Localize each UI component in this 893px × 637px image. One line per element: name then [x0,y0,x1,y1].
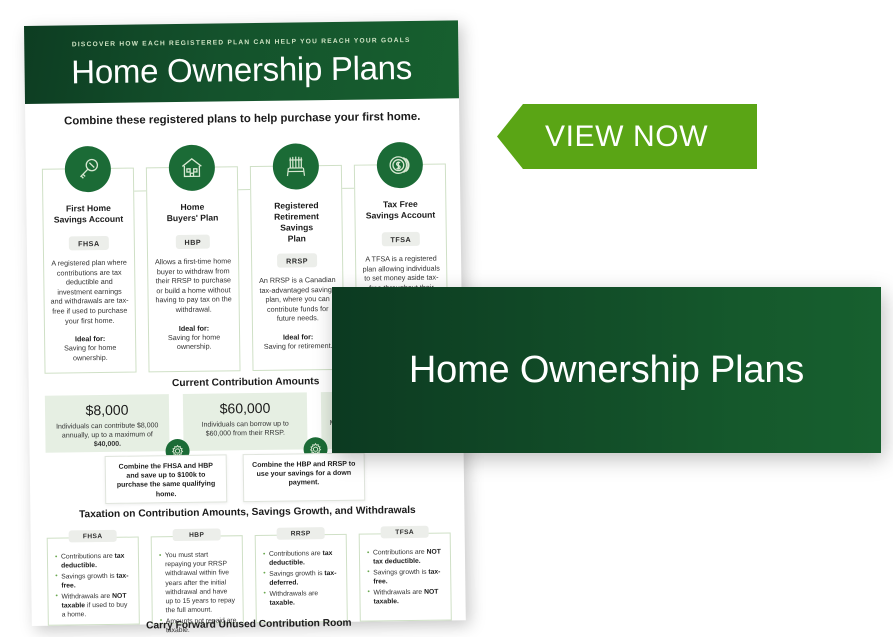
chair-icon [273,143,320,190]
taxation-badge: RRSP [277,527,325,540]
key-icon [65,146,112,193]
plan-description: An RRSP is a Canadian tax-advantaged sav… [258,275,337,324]
contribution-value: $60,000 [191,399,299,417]
plan-name: HomeBuyers' Plan [153,201,231,226]
plan-ideal-value: Saving for home ownership. [51,343,129,363]
view-now-button[interactable]: VIEW NOW [497,104,757,169]
overlay-title-panel[interactable]: Home Ownership Plans [332,287,881,453]
taxation-section-title: Taxation on Contribution Amounts, Saving… [30,504,464,521]
list-item: You must start repaying your RRSP withdr… [159,550,237,615]
plan-connector-line [134,190,146,191]
plan-card-hbp[interactable]: HomeBuyers' Plan HBP Allows a first-time… [146,166,241,372]
taxation-card-fhsa[interactable]: FHSA Contributions are tax deductible. S… [47,537,140,626]
plan-name: First HomeSavings Account [49,203,127,228]
plan-badge: HBP [175,235,210,249]
contribution-card-hbp[interactable]: $60,000 Individuals can borrow up to $60… [183,392,308,451]
list-item: Savings growth is tax-deferred. [263,569,340,588]
taxation-list: Contributions are NOT tax deductible. Sa… [367,548,445,607]
coins-dollar-icon [377,142,424,189]
taxation-badge: FHSA [69,530,117,543]
plan-ideal-value: Saving for retirement. [259,341,337,351]
list-item: Savings growth is tax-free. [55,572,132,591]
screenshot-stage: DISCOVER HOW EACH REGISTERED PLAN CAN HE… [0,0,893,610]
plan-ideal-value: Saving for home ownership. [155,332,233,352]
combine-tip-fhsa-hbp: Combine the FHSA and HBP and save up to … [105,454,228,504]
plan-name: RegisteredRetirement SavingsPlan [257,200,336,245]
list-item: Savings growth is tax-free. [367,567,444,586]
taxation-card-row: FHSA Contributions are tax deductible. S… [47,520,451,525]
page-header: DISCOVER HOW EACH REGISTERED PLAN CAN HE… [24,20,459,104]
list-item: Withdrawals are NOT taxable if used to b… [55,591,132,620]
contribution-text: Individuals can contribute $8,000 annual… [53,421,161,450]
contribution-text-bold: $40,000. [94,441,121,448]
plan-connector-line [238,189,250,190]
contribution-card-fhsa[interactable]: $8,000 Individuals can contribute $8,000… [45,394,170,453]
view-now-label: VIEW NOW [545,120,708,154]
plan-badge: FHSA [69,236,109,251]
taxation-card-hbp[interactable]: HBP You must start repaying your RRSP wi… [151,535,244,624]
plan-description: Allows a first-time home buyer to withdr… [154,256,233,315]
list-item: Withdrawals are NOT taxable. [367,587,444,606]
list-item: Contributions are tax deductible. [55,552,132,571]
plan-badge: TFSA [381,232,420,247]
plan-card-fhsa[interactable]: First HomeSavings Account FHSA A registe… [42,168,137,374]
page-title: Home Ownership Plans [24,47,458,93]
header-kicker: DISCOVER HOW EACH REGISTERED PLAN CAN HE… [24,36,458,49]
plan-badge: RRSP [277,253,317,268]
subheading: Combine these registered plans to help p… [25,110,459,128]
list-item: Withdrawals are taxable. [263,589,340,608]
contribution-text: Individuals can borrow up to $60,000 fro… [191,419,299,439]
taxation-card-tfsa[interactable]: TFSA Contributions are NOT tax deductibl… [359,532,452,621]
contribution-value: $8,000 [53,401,161,419]
taxation-badge: TFSA [381,526,429,539]
plan-card-rrsp[interactable]: RegisteredRetirement SavingsPlan RRSP An… [250,165,345,371]
plan-connector-line [342,188,354,189]
house-icon [169,145,216,192]
overlay-title-text: Home Ownership Plans [409,347,804,393]
combine-tip-hbp-rrsp: Combine the HBP and RRSP to use your sav… [243,453,366,503]
taxation-list: Contributions are tax deductible. Saving… [263,549,341,608]
plan-description: A registered plan where contributions ar… [50,258,129,326]
taxation-badge: HBP [173,528,221,541]
list-item: Contributions are NOT tax deductible. [367,548,444,567]
list-item: Contributions are tax deductible. [263,549,340,568]
plan-name: Tax FreeSavings Account [361,199,439,224]
